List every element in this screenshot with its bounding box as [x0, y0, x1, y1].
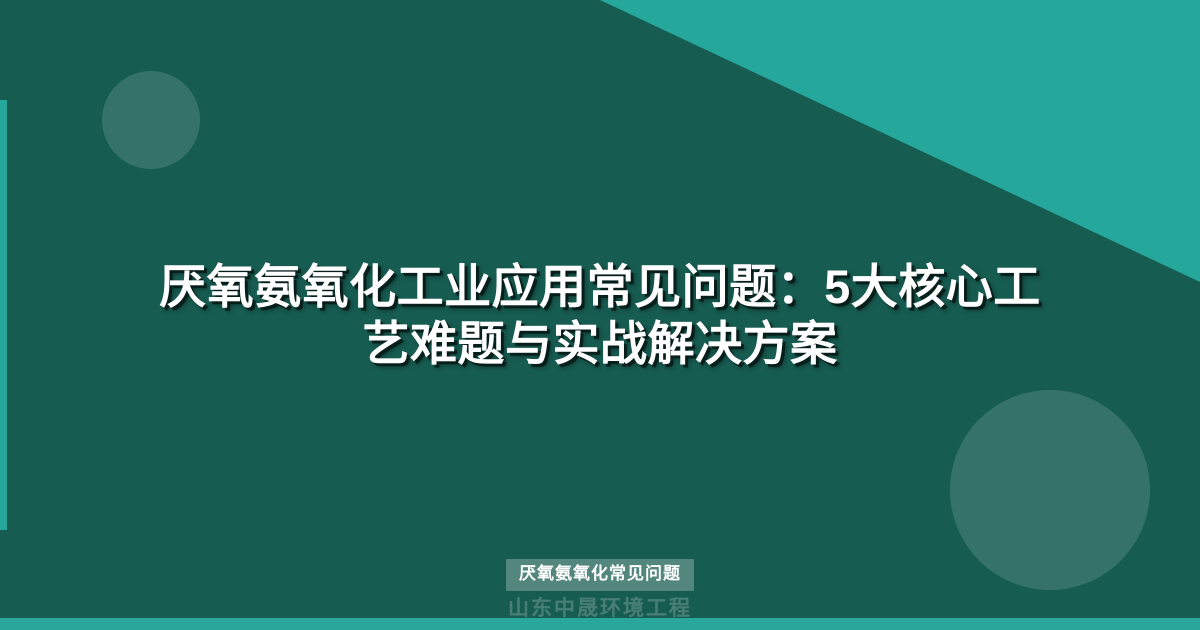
watermark-badge: 厌氧氨氧化常见问题 [506, 559, 694, 590]
article-cover-card: 厌氧氨氧化工业应用常见问题：5大核心工艺难题与实战解决方案 厌氧氨氧化常见问题 … [0, 0, 1200, 630]
headline-container: 厌氧氨氧化工业应用常见问题：5大核心工艺难题与实战解决方案 [0, 0, 1200, 630]
page-title: 厌氧氨氧化工业应用常见问题：5大核心工艺难题与实战解决方案 [140, 258, 1060, 373]
watermark-source-label: 山东中晟环境工程 [508, 595, 692, 622]
watermark-block: 厌氧氨氧化常见问题 山东中晟环境工程 [0, 559, 1200, 622]
